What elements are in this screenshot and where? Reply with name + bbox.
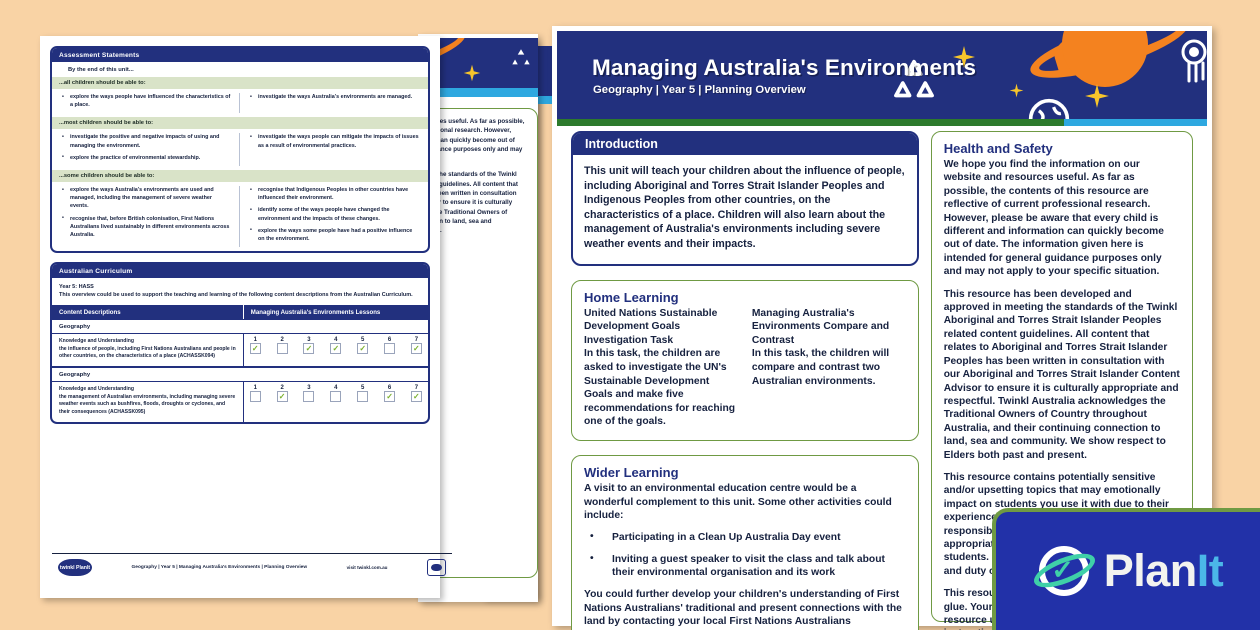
tick-cell[interactable] xyxy=(357,343,368,354)
left-page-front: Assessment Statements By the end of this… xyxy=(40,36,440,598)
tick-cell[interactable] xyxy=(330,391,341,402)
hs-paragraph: This resource has been developed and app… xyxy=(944,288,1180,462)
page-title: Managing Australia's Environments xyxy=(592,55,976,81)
list-item: Participating in a Clean Up Australia Da… xyxy=(584,531,906,545)
home-learning-card: Home Learning United Nations Sustainable… xyxy=(571,280,919,441)
introduction-card: Introduction This unit will teach your c… xyxy=(571,131,919,266)
astronaut-icon xyxy=(1177,37,1207,94)
planet-icon xyxy=(1062,31,1148,87)
twinkl-planit-logo: twinkl PlanIt xyxy=(58,559,92,576)
wider-learning-bullets: Participating in a Clean Up Australia Da… xyxy=(584,531,906,580)
tick-cell[interactable] xyxy=(303,391,314,402)
planit-planet-check-icon: ✓ xyxy=(1033,540,1095,602)
assessment-group-all: explore the ways people have influenced … xyxy=(52,89,428,117)
wider-learning-intro: A visit to an environmental education ce… xyxy=(584,482,906,523)
tick-cell[interactable] xyxy=(411,343,422,354)
tick-cell[interactable] xyxy=(411,391,422,402)
curriculum-table-header: Content Descriptions Managing Australia'… xyxy=(52,305,428,319)
list-item: investigate the ways people can mitigate… xyxy=(248,133,420,149)
curriculum-subject: Geography xyxy=(52,367,428,382)
table-row: Knowledge and Understanding the influenc… xyxy=(52,334,428,367)
introduction-body: This unit will teach your children about… xyxy=(573,155,917,264)
health-and-safety-title: Health and Safety xyxy=(944,141,1180,156)
row-description: the influence of people, including First… xyxy=(59,346,236,359)
assessment-band-most: ...most children should be able to: xyxy=(52,117,428,129)
list-item: explore the ways Australia's environment… xyxy=(60,186,231,211)
tick-cell[interactable] xyxy=(277,391,288,402)
assessment-band-all: ...all children should be able to: xyxy=(52,77,428,89)
tick-cell[interactable] xyxy=(250,343,261,354)
list-item: Inviting a guest speaker to visit the cl… xyxy=(584,553,906,580)
row-strand: Knowledge and Understanding xyxy=(59,386,134,392)
list-item: explore the practice of environmental st… xyxy=(60,154,231,162)
tick-cell[interactable] xyxy=(384,343,395,354)
footer-visit-link[interactable]: visit twinkl.com.au xyxy=(347,565,388,570)
tick-cell[interactable] xyxy=(384,391,395,402)
star-icon xyxy=(1009,83,1024,103)
row-strand: Knowledge and Understanding xyxy=(59,338,134,344)
cert-badge-icon xyxy=(427,559,446,576)
table-row: Knowledge and Understanding the manageme… xyxy=(52,382,428,422)
curriculum-year: Year 5: HASS xyxy=(59,283,421,291)
curriculum-intro: This overview could be used to support t… xyxy=(59,292,413,298)
tick-row-0 xyxy=(250,343,422,354)
planit-wordmark: PlanIt xyxy=(1104,545,1224,597)
planit-it-text: It xyxy=(1197,545,1224,596)
page-subtitle: Geography | Year 5 | Planning Overview xyxy=(593,84,806,96)
wider-learning-paragraph: You could further develop your children'… xyxy=(584,588,906,630)
curriculum-subject: Geography xyxy=(52,319,428,334)
wider-learning-card: Wider Learning A visit to an environment… xyxy=(571,455,919,630)
home-learning-title: Home Learning xyxy=(584,290,906,305)
main-left-column: Introduction This unit will teach your c… xyxy=(571,131,919,622)
assessment-group-some: explore the ways Australia's environment… xyxy=(52,182,428,251)
page-banner: Managing Australia's Environments Geogra… xyxy=(557,31,1207,119)
introduction-title: Introduction xyxy=(573,133,917,155)
tick-cell[interactable] xyxy=(357,391,368,402)
star-icon xyxy=(463,64,481,87)
list-item: identify some of the ways people have ch… xyxy=(248,206,420,222)
assessment-statements-card: Assessment Statements By the end of this… xyxy=(50,46,430,253)
recycle-icon xyxy=(508,46,534,77)
tick-cell[interactable] xyxy=(303,343,314,354)
star-icon xyxy=(1084,83,1110,114)
row-description: the management of Australian environment… xyxy=(59,394,235,415)
tick-cell[interactable] xyxy=(277,343,288,354)
assessment-band-some: ...some children should be able to: xyxy=(52,170,428,182)
planit-badge: ✓ PlanIt xyxy=(992,508,1260,630)
tick-row-1 xyxy=(250,391,422,402)
list-item: explore the ways some people have had a … xyxy=(248,227,420,243)
wider-learning-title: Wider Learning xyxy=(584,465,906,480)
tick-cell[interactable] xyxy=(330,343,341,354)
australian-curriculum-card: Australian Curriculum Year 5: HASS This … xyxy=(50,262,430,424)
list-item: recognise that Indigenous Peoples in oth… xyxy=(248,186,420,202)
left-document-stack: visit twinkl.com.au We hope you find the… xyxy=(28,28,508,608)
assessment-statements-title: Assessment Statements xyxy=(52,48,428,62)
list-item: investigate the positive and negative im… xyxy=(60,133,231,149)
hs-paragraph: We hope you find the information on our … xyxy=(944,158,1180,279)
list-item: explore the ways people have influenced … xyxy=(60,93,231,109)
curriculum-title: Australian Curriculum xyxy=(52,264,428,278)
banner-wave-divider xyxy=(557,119,1207,126)
assessment-group-most: investigate the positive and negative im… xyxy=(52,129,428,170)
home-learning-heading: Managing Australia's Environments Compar… xyxy=(752,307,906,348)
tick-cell[interactable] xyxy=(250,391,261,402)
home-learning-text: In this task, the children will compare … xyxy=(752,347,906,388)
planit-plan-text: Plan xyxy=(1104,545,1197,596)
globe-icon xyxy=(1027,97,1071,119)
list-item: recognise that, before British colonisat… xyxy=(60,215,231,240)
left-page-footer: twinkl PlanIt Geography | Year 5 | Manag… xyxy=(52,553,452,576)
list-item: investigate the ways Australia's environ… xyxy=(248,93,420,101)
footer-breadcrumb: Geography | Year 5 | Managing Australia'… xyxy=(132,565,308,570)
home-learning-heading: United Nations Sustainable Development G… xyxy=(584,307,738,348)
col-header-content-descriptions: Content Descriptions xyxy=(52,305,244,319)
assessment-subline: By the end of this unit... xyxy=(52,62,428,77)
home-learning-text: In this task, the children are asked to … xyxy=(584,347,738,429)
col-header-lessons: Managing Australia's Environments Lesson… xyxy=(244,305,428,319)
